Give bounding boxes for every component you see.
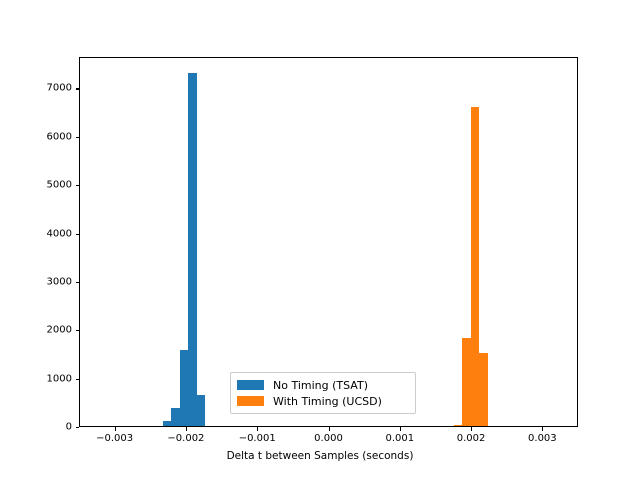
legend[interactable]: No Timing (TSAT) With Timing (UCSD) <box>230 372 416 414</box>
legend-item-no-timing-tsat[interactable]: No Timing (TSAT) <box>237 377 409 393</box>
histogram-bar <box>462 338 471 426</box>
x-axis-tick <box>115 427 116 431</box>
histogram-bar <box>479 353 488 426</box>
y-axis-tick-label: 5000 <box>47 180 72 191</box>
legend-label-series-1: With Timing (UCSD) <box>273 395 382 408</box>
histogram-bar <box>171 408 180 426</box>
x-axis-tick-label: 0.000 <box>314 433 343 444</box>
x-axis-tick <box>329 427 330 431</box>
x-axis-tick <box>542 427 543 431</box>
histogram-bar <box>454 425 463 426</box>
y-axis-tick <box>76 379 80 380</box>
y-axis-tick <box>76 330 80 331</box>
histogram-bar <box>197 395 206 426</box>
x-axis-tick <box>257 427 258 431</box>
histogram-bar <box>163 421 172 426</box>
x-axis-tick <box>400 427 401 431</box>
x-axis-tick-label: 0.001 <box>385 433 414 444</box>
x-axis-tick-label: 0.003 <box>528 433 557 444</box>
x-axis-label: Delta t between Samples (seconds) <box>0 450 640 462</box>
legend-swatch-icon-series-1 <box>237 396 264 406</box>
histogram-bar <box>471 107 480 426</box>
y-axis-tick <box>76 282 80 283</box>
y-axis-tick <box>76 137 80 138</box>
y-axis-tick <box>76 88 80 89</box>
x-axis-tick-label: −0.001 <box>239 433 276 444</box>
y-axis-tick-label: 7000 <box>47 83 72 94</box>
plot-area <box>80 58 577 426</box>
histogram-bar <box>188 73 197 426</box>
legend-label-series-0: No Timing (TSAT) <box>273 379 368 392</box>
legend-item-with-timing-ucsd[interactable]: With Timing (UCSD) <box>237 393 409 409</box>
x-axis-tick-label: −0.003 <box>96 433 133 444</box>
x-axis-tick <box>186 427 187 431</box>
y-axis-tick-label: 2000 <box>47 325 72 336</box>
legend-swatch-icon-series-0 <box>237 380 264 390</box>
x-axis-tick <box>471 427 472 431</box>
histogram-bar <box>180 350 189 426</box>
y-axis-tick-label: 0 <box>66 422 72 433</box>
y-axis-tick-label: 1000 <box>47 373 72 384</box>
y-axis-tick <box>76 427 80 428</box>
y-axis-tick <box>76 185 80 186</box>
figure: −0.003−0.002−0.0010.0000.0010.0020.00301… <box>0 0 640 480</box>
y-axis-tick-label: 3000 <box>47 276 72 287</box>
y-axis-tick-label: 4000 <box>47 228 72 239</box>
y-axis-tick <box>76 234 80 235</box>
x-axis-tick-label: 0.002 <box>457 433 486 444</box>
y-axis-tick-label: 6000 <box>47 131 72 142</box>
x-axis-tick-label: −0.002 <box>167 433 204 444</box>
